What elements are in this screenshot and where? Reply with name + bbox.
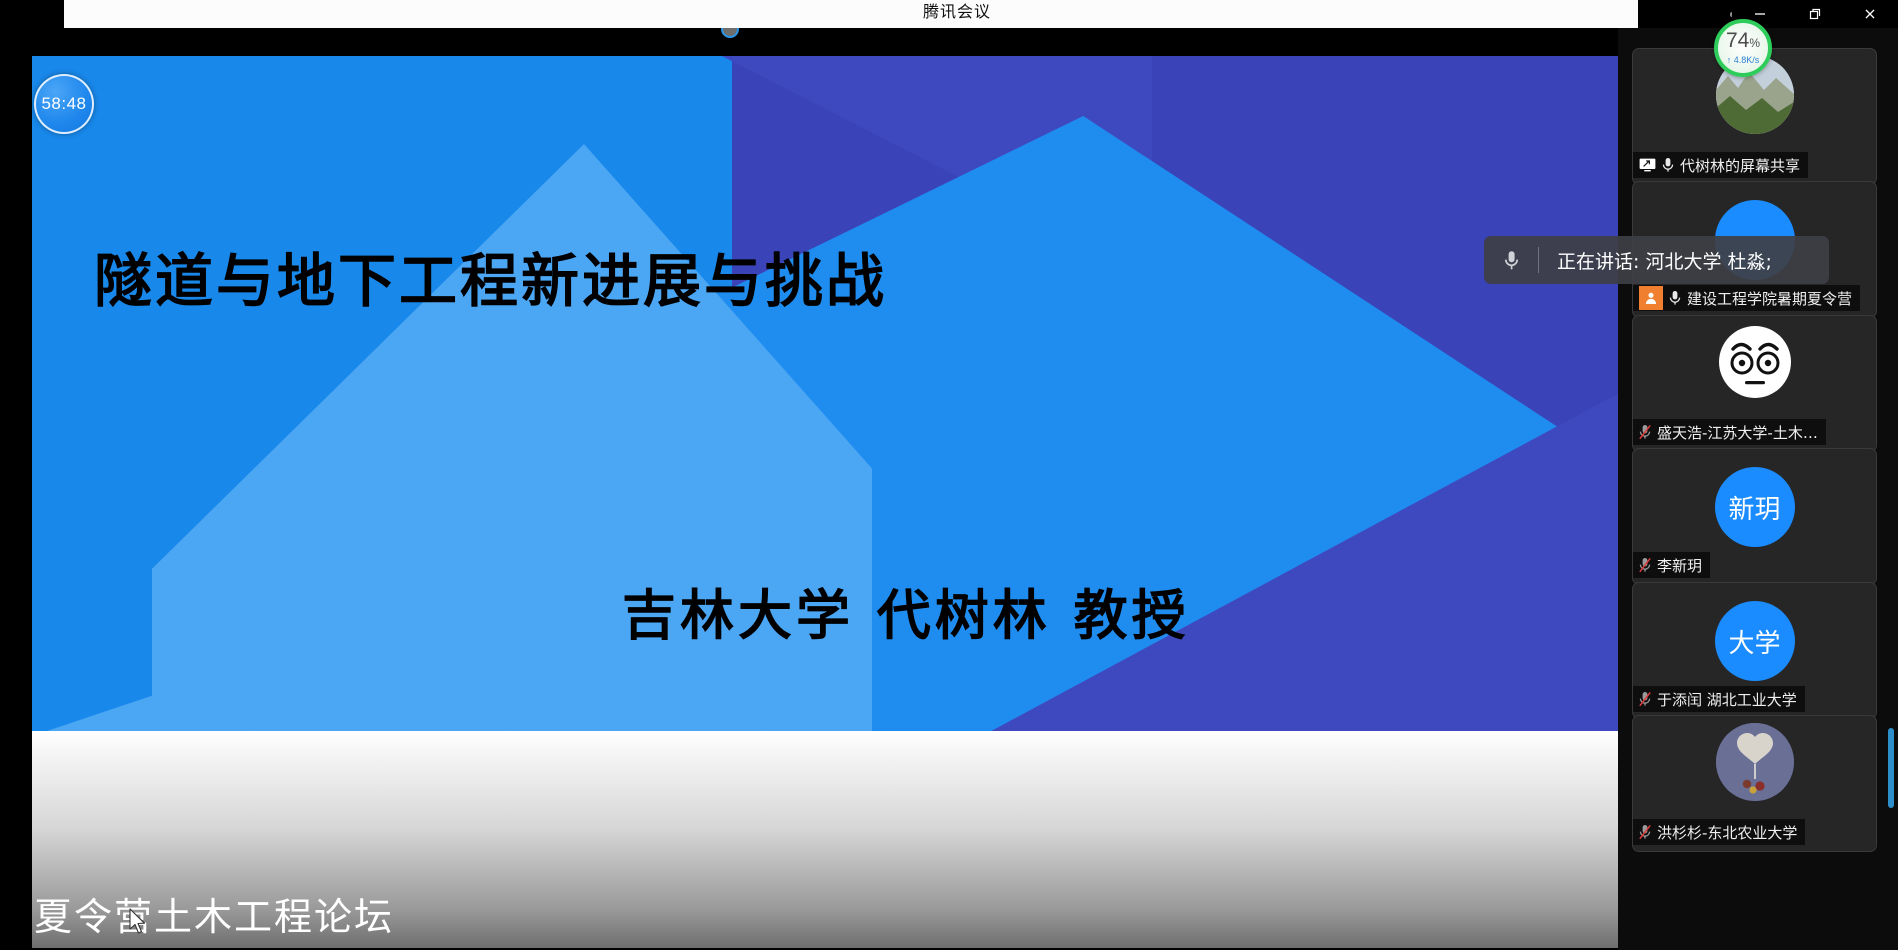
screen-share-icon xyxy=(1639,158,1656,172)
avatar xyxy=(1716,723,1794,801)
participant-name-label: 建设工程学院暑期夏令营 xyxy=(1687,288,1852,309)
tencent-meeting-window: 腾讯会议 xyxy=(16,0,1898,950)
meeting-timer-value: 58:48 xyxy=(41,94,86,114)
speaking-toast-mic-wrap xyxy=(1484,250,1538,271)
surprised-face-emoji-icon xyxy=(1716,323,1794,401)
left-black-rail xyxy=(0,0,16,950)
participant-name-chip: 李新玥 xyxy=(1633,552,1710,578)
microphone-muted-icon xyxy=(1639,557,1651,573)
presentation-slide: 隧道与地下工程新进展与挑战 吉林大学 代树林 教授 夏令营土木工程论坛 xyxy=(32,56,1618,948)
heart-teabag-photo-icon xyxy=(1716,723,1794,801)
network-speed: ↑ 4.8K/s xyxy=(1727,55,1760,65)
avatar: 大学 xyxy=(1715,601,1795,681)
microphone-icon xyxy=(1504,250,1519,271)
avatar-initials-label: 大学 xyxy=(1728,623,1780,660)
meeting-timer-badge[interactable]: 58:48 xyxy=(34,74,94,134)
participant-name-chip: 代树林的屏幕共享 xyxy=(1633,152,1808,178)
participant-name-label: 于添闰 湖北工业大学 xyxy=(1657,689,1797,710)
network-percent: 74% xyxy=(1726,31,1760,53)
host-badge xyxy=(1639,286,1663,310)
shared-screen-stage[interactable]: 隧道与地下工程新进展与挑战 吉林大学 代树林 教授 夏令营土木工程论坛 58:4… xyxy=(16,28,1618,950)
network-speed-arrow-icon: ↑ xyxy=(1727,55,1732,65)
participant-tile[interactable]: 新玥李新玥 xyxy=(1632,448,1877,585)
participant-name-label: 洪杉杉-东北农业大学 xyxy=(1657,822,1797,843)
avatar: 新玥 xyxy=(1715,467,1795,547)
participant-rail[interactable]: 代树林的屏幕共享建设工程学院暑期夏令营盛天浩-江苏大学-土木…新玥李新玥大学于添… xyxy=(1618,28,1898,950)
host-person-icon xyxy=(1644,291,1658,305)
network-percent-value: 74 xyxy=(1726,29,1749,52)
avatar xyxy=(1716,323,1794,401)
title-bar[interactable]: 腾讯会议 xyxy=(16,0,1898,28)
network-status-bubble[interactable]: 74% ↑ 4.8K/s xyxy=(1714,19,1772,77)
slide-subtitle: 吉林大学 代树林 教授 xyxy=(622,571,1190,650)
screen-root: ← 腾讯会议 xyxy=(0,0,1898,950)
network-speed-value: 4.8K/s xyxy=(1734,55,1760,65)
slide-background-graphic: 隧道与地下工程新进展与挑战 吉林大学 代树林 教授 xyxy=(32,56,1618,731)
restore-button[interactable] xyxy=(1787,0,1842,28)
close-button[interactable] xyxy=(1843,0,1898,28)
avatar-initials-label: 新玥 xyxy=(1728,489,1780,526)
speaking-toast-text: 正在讲话: 河北大学 杜淼; xyxy=(1539,247,1772,274)
speaking-toast: 正在讲话: 河北大学 杜淼; xyxy=(1484,236,1829,284)
participant-name-chip: 建设工程学院暑期夏令营 xyxy=(1633,285,1860,311)
network-percent-sign: % xyxy=(1749,36,1760,50)
microphone-muted-icon xyxy=(1639,424,1651,440)
participant-tile[interactable]: 盛天浩-江苏大学-土木… xyxy=(1632,315,1877,452)
microphone-icon xyxy=(1669,290,1681,306)
slide-footer-text: 夏令营土木工程论坛 xyxy=(34,886,394,941)
participant-tile[interactable]: 大学于添闰 湖北工业大学 xyxy=(1632,582,1877,719)
participant-name-chip: 盛天浩-江苏大学-土木… xyxy=(1633,419,1826,445)
microphone-muted-icon xyxy=(1639,691,1651,707)
participant-name-label: 盛天浩-江苏大学-土木… xyxy=(1657,422,1818,443)
participant-tile[interactable]: 洪杉杉-东北农业大学 xyxy=(1632,715,1877,852)
participant-rail-scrollbar[interactable] xyxy=(1888,728,1894,808)
slide-title: 隧道与地下工程新进展与挑战 xyxy=(94,234,887,318)
microphone-muted-icon xyxy=(1639,824,1651,840)
participant-name-label: 代树林的屏幕共享 xyxy=(1680,155,1800,176)
microphone-icon xyxy=(1662,157,1674,173)
participant-name-chip: 洪杉杉-东北农业大学 xyxy=(1633,819,1805,845)
window-title: 腾讯会议 xyxy=(16,0,1898,28)
participant-name-label: 李新玥 xyxy=(1657,555,1702,576)
playback-slider-handle[interactable] xyxy=(721,28,739,38)
participant-name-chip: 于添闰 湖北工业大学 xyxy=(1633,686,1805,712)
chevron-left-icon[interactable]: ‹ xyxy=(16,508,18,548)
